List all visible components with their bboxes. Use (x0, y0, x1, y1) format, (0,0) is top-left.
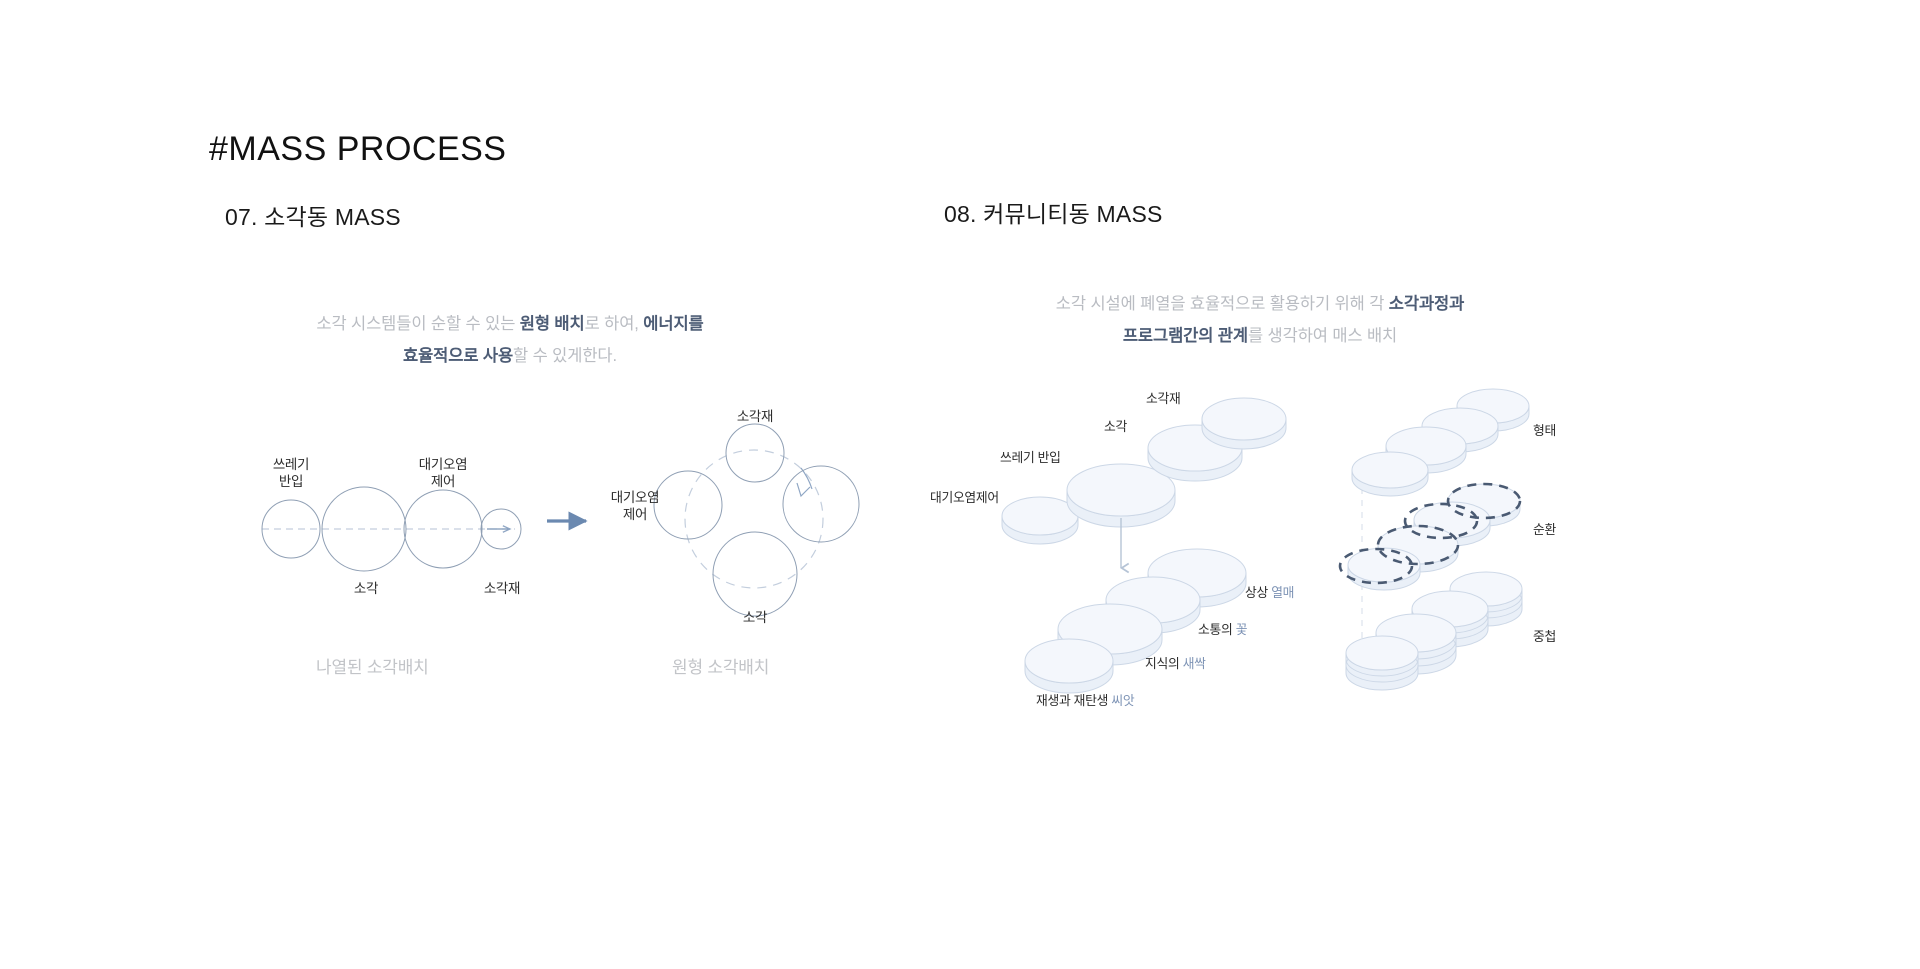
variant-overlap-discs (1346, 572, 1522, 690)
variant-circulation-discs (1340, 484, 1520, 590)
upper-label-ash: 소각재 (1146, 390, 1180, 407)
desc-left-seg3: 할 수 있게한다. (513, 347, 617, 365)
variant-form-disc-3 (1422, 408, 1498, 452)
upper-label-air-control: 대기오염제어 (930, 489, 999, 506)
linear-arrangement-diagram (262, 487, 521, 571)
disc-fruit (1148, 549, 1246, 607)
variant-circ-disc-4 (1448, 484, 1520, 526)
circular-arrangement-diagram (654, 424, 859, 616)
slide-root: #MASS PROCESS 07. 소각동 MASS 08. 커뮤니티동 MAS… (0, 0, 1920, 969)
linear-node-incineration (322, 487, 406, 571)
variant-form-disc-2 (1386, 427, 1466, 473)
variant-form-disc-1 (1352, 452, 1428, 496)
linear-label-ash: 소각재 (484, 580, 520, 597)
circulation-outline-lower-2 (1340, 549, 1412, 583)
caption-linear: 나열된 소각배치 (316, 653, 429, 678)
linear-node-waste (262, 500, 320, 558)
variant-overlap-disc-3 (1412, 591, 1488, 647)
circular-label-incineration: 소각 (743, 609, 767, 626)
disc-ash (1202, 398, 1286, 449)
description-left: 소각 시스템들이 순할 수 있는 원형 배치로 하여, 에너지를효율적으로 사용… (190, 308, 830, 372)
desc-left-seg2: 로 하여, (585, 315, 644, 333)
circular-node-incineration (713, 532, 797, 616)
linear-node-air-control (404, 490, 482, 568)
lower-label-seed: 재생과 재탄생 씨앗 (1036, 692, 1134, 709)
circular-direction-arrow (797, 483, 810, 496)
circular-node-air-control (654, 471, 722, 539)
variant-label-circulation: 순환 (1533, 521, 1556, 538)
disc-air-control (1002, 497, 1078, 544)
variant-circ-disc-1 (1348, 548, 1420, 590)
disc-flower (1106, 577, 1200, 633)
circular-label-air-control: 대기오염 제어 (611, 489, 659, 523)
upper-disc-stack (1002, 398, 1286, 544)
variant-label-overlap: 중첩 (1533, 628, 1556, 645)
lower-label-fruit: 상상 열매 (1245, 584, 1294, 601)
upper-label-waste-in: 쓰레기 반입 (1000, 449, 1061, 466)
disc-incineration (1148, 425, 1242, 481)
variant-circ-disc-3 (1414, 502, 1490, 546)
disc-seed (1025, 639, 1113, 693)
circular-node-ash (726, 424, 784, 482)
page-title: #MASS PROCESS (209, 130, 506, 169)
variant-overlap-disc-4 (1450, 572, 1522, 626)
circulation-outline-lower (1378, 526, 1458, 564)
variant-form-disc-4 (1457, 389, 1529, 431)
desc-right-seg1: 소각 시설에 폐열을 효율적으로 활용하기 위해 각 (1056, 295, 1389, 313)
desc-right-seg2: 를 생각하여 매스 배치 (1248, 327, 1397, 345)
desc-left-bold1: 원형 배치 (520, 315, 585, 333)
desc-left-bold2: 에너지를 (643, 315, 703, 333)
upper-label-incineration: 소각 (1104, 418, 1127, 435)
linear-label-incineration: 소각 (354, 580, 378, 597)
circulation-outline-upper (1448, 484, 1520, 518)
variant-circ-disc-2 (1378, 526, 1458, 572)
circular-direction-arc (801, 468, 812, 489)
disc-waste-in (1067, 464, 1175, 527)
variant-form-discs (1352, 389, 1529, 496)
desc-left-bold3: 효율적으로 사용 (403, 347, 513, 365)
linear-label-waste: 쓰레기 반입 (273, 456, 309, 490)
desc-right-bold1: 소각과정과 (1389, 295, 1464, 313)
lower-label-flower: 소통의 꽃 (1198, 621, 1247, 638)
variant-overlap-disc-1 (1346, 636, 1418, 690)
circular-node-right (783, 466, 859, 542)
circular-ring-path (685, 450, 823, 588)
section-title-left: 07. 소각동 MASS (225, 198, 401, 232)
description-right: 소각 시설에 폐열을 효율적으로 활용하기 위해 각 소각과정과프로그램간의 관… (940, 288, 1580, 352)
desc-left-seg1: 소각 시스템들이 순할 수 있는 (316, 315, 519, 333)
variant-overlap-disc-2 (1376, 614, 1456, 674)
variant-label-form: 형태 (1533, 422, 1556, 439)
circulation-outline-upper-2 (1405, 504, 1477, 538)
desc-right-bold2: 프로그램간의 관계 (1123, 327, 1248, 345)
linear-node-ash (481, 509, 521, 549)
lower-label-sprout: 지식의 새싹 (1145, 655, 1206, 672)
caption-circular: 원형 소각배치 (672, 653, 769, 678)
linear-label-air-control: 대기오염 제어 (419, 456, 467, 490)
circular-label-ash: 소각재 (737, 408, 773, 425)
section-title-right: 08. 커뮤니티동 MASS (944, 195, 1163, 229)
